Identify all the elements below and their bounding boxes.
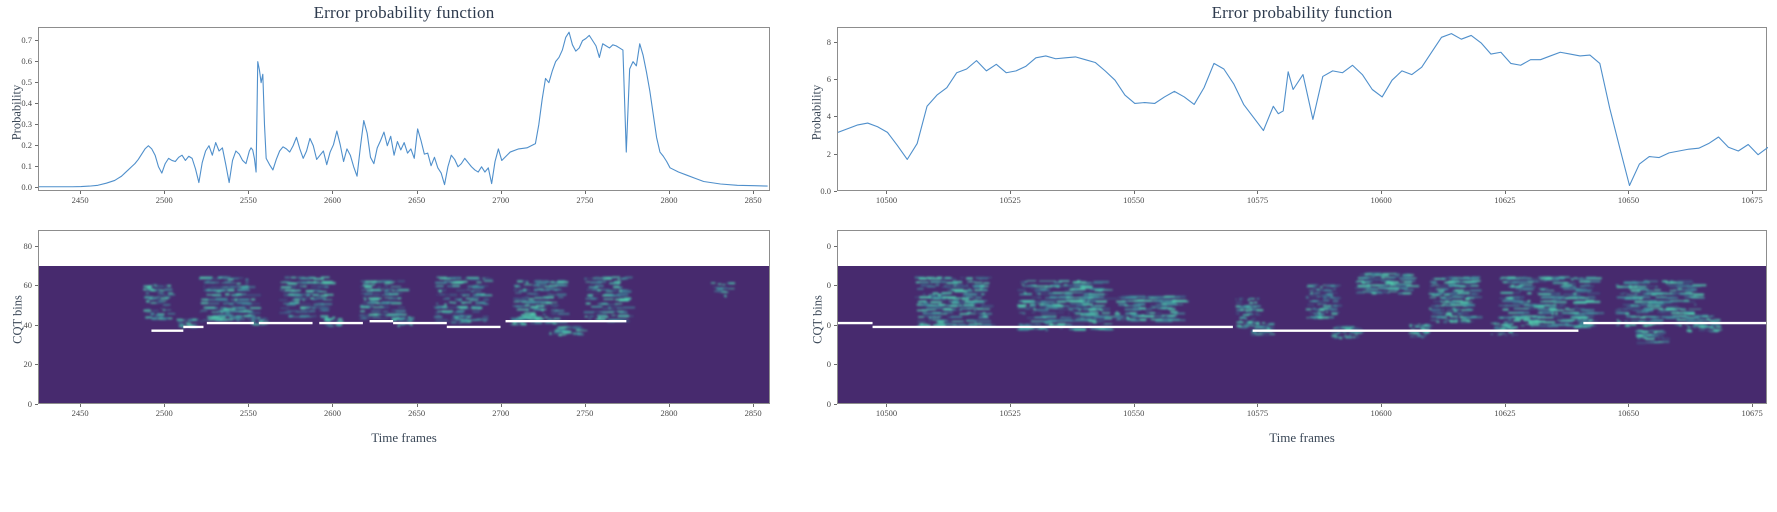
x-tick-label: 10625 xyxy=(1494,408,1515,418)
x-tickmark xyxy=(1134,191,1135,194)
y-tick-label: 0.2 xyxy=(6,140,32,150)
y-tick-label: 6 xyxy=(805,74,831,84)
right-error-line-chart xyxy=(838,28,1768,192)
x-tick-label: 10575 xyxy=(1247,195,1268,205)
x-tick-label: 2500 xyxy=(156,195,173,205)
y-tick-label: 0 xyxy=(805,359,831,369)
y-tick-label: 0.0 xyxy=(805,186,831,196)
x-tickmark xyxy=(1752,404,1753,407)
x-tick-label: 10575 xyxy=(1247,408,1268,418)
x-tickmark xyxy=(332,404,333,407)
x-tick-label: 10600 xyxy=(1371,408,1392,418)
right-error-axes xyxy=(837,27,1767,191)
y-tickmark xyxy=(35,103,38,104)
y-tickmark xyxy=(35,325,38,326)
x-tickmark xyxy=(585,191,586,194)
x-tickmark xyxy=(1505,191,1506,194)
left-error-ylabel: Probability xyxy=(10,78,25,148)
y-tickmark xyxy=(35,124,38,125)
x-tickmark xyxy=(886,404,887,407)
x-tick-label: 2450 xyxy=(72,195,89,205)
y-tickmark xyxy=(834,404,837,405)
x-tick-label: 2550 xyxy=(240,195,257,205)
x-tickmark xyxy=(886,191,887,194)
y-tickmark xyxy=(834,364,837,365)
y-tickmark xyxy=(834,191,837,192)
x-tickmark xyxy=(164,191,165,194)
y-tick-label: 0.0 xyxy=(6,182,32,192)
x-tick-label: 10550 xyxy=(1123,195,1144,205)
left-xlabel: Time frames xyxy=(38,430,770,446)
y-tick-label: 0.4 xyxy=(6,98,32,108)
y-tickmark xyxy=(35,285,38,286)
x-tick-label: 2450 xyxy=(72,408,89,418)
left-cqt-axes xyxy=(38,230,770,404)
y-tickmark xyxy=(834,42,837,43)
y-tickmark xyxy=(834,79,837,80)
x-tickmark xyxy=(1628,404,1629,407)
x-tick-label: 10675 xyxy=(1742,195,1763,205)
y-tickmark xyxy=(35,40,38,41)
x-tick-label: 2800 xyxy=(661,195,678,205)
x-tickmark xyxy=(501,404,502,407)
x-tickmark xyxy=(753,191,754,194)
x-tick-label: 10525 xyxy=(1000,195,1021,205)
x-tick-label: 2700 xyxy=(492,408,509,418)
x-tickmark xyxy=(80,191,81,194)
y-tick-label: 0 xyxy=(6,399,32,409)
left-annotation-overlay xyxy=(39,231,769,403)
x-tick-label: 2600 xyxy=(324,408,341,418)
x-tick-label: 2850 xyxy=(745,408,762,418)
x-tickmark xyxy=(248,404,249,407)
x-tickmark xyxy=(1134,404,1135,407)
x-tick-label: 10625 xyxy=(1494,195,1515,205)
x-tickmark xyxy=(501,191,502,194)
x-tickmark xyxy=(1752,191,1753,194)
x-tick-label: 10650 xyxy=(1618,195,1639,205)
x-tick-label: 2800 xyxy=(661,408,678,418)
y-tickmark xyxy=(834,154,837,155)
y-tick-label: 0.1 xyxy=(6,161,32,171)
y-tick-label: 2 xyxy=(805,149,831,159)
y-tickmark xyxy=(35,166,38,167)
y-tickmark xyxy=(35,187,38,188)
x-tick-label: 2750 xyxy=(576,195,593,205)
panel-right: Error probability function Probability 0… xyxy=(800,0,1777,512)
x-tickmark xyxy=(585,404,586,407)
x-tick-label: 10525 xyxy=(1000,408,1021,418)
x-tickmark xyxy=(1381,404,1382,407)
x-tick-label: 10675 xyxy=(1742,408,1763,418)
left-error-line-chart xyxy=(39,28,771,192)
x-tickmark xyxy=(417,191,418,194)
figure-canvas: Error probability function Probability 0… xyxy=(0,0,1777,512)
x-tick-label: 2700 xyxy=(492,195,509,205)
left-error-axes xyxy=(38,27,770,191)
y-tick-label: 0 xyxy=(805,280,831,290)
x-tickmark xyxy=(1010,404,1011,407)
y-tickmark xyxy=(35,61,38,62)
y-tick-label: 0.3 xyxy=(6,119,32,129)
x-tickmark xyxy=(332,191,333,194)
y-tick-label: 0 xyxy=(805,241,831,251)
y-tickmark xyxy=(35,404,38,405)
x-tickmark xyxy=(417,404,418,407)
y-tick-label: 40 xyxy=(6,320,32,330)
right-xlabel: Time frames xyxy=(837,430,1767,446)
x-tick-label: 2650 xyxy=(408,408,425,418)
x-tickmark xyxy=(164,404,165,407)
x-tickmark xyxy=(1505,404,1506,407)
x-tick-label: 2550 xyxy=(240,408,257,418)
right-annotation-overlay xyxy=(838,231,1766,403)
x-tick-label: 2600 xyxy=(324,195,341,205)
y-tick-label: 60 xyxy=(6,280,32,290)
y-tickmark xyxy=(35,82,38,83)
x-tick-label: 10650 xyxy=(1618,408,1639,418)
left-error-title: Error probability function xyxy=(38,3,770,23)
y-tick-label: 0.7 xyxy=(6,35,32,45)
x-tickmark xyxy=(80,404,81,407)
x-tickmark xyxy=(669,404,670,407)
x-tickmark xyxy=(1010,191,1011,194)
y-tick-label: 20 xyxy=(6,359,32,369)
x-tick-label: 2500 xyxy=(156,408,173,418)
x-tickmark xyxy=(1381,191,1382,194)
x-tick-label: 10550 xyxy=(1123,408,1144,418)
y-tickmark xyxy=(35,246,38,247)
x-tickmark xyxy=(1257,191,1258,194)
x-tick-label: 2650 xyxy=(408,195,425,205)
y-tick-label: 8 xyxy=(805,37,831,47)
y-tickmark xyxy=(35,145,38,146)
y-tickmark xyxy=(834,116,837,117)
y-tick-label: 4 xyxy=(805,111,831,121)
x-tick-label: 10500 xyxy=(876,408,897,418)
y-tick-label: 0.6 xyxy=(6,56,32,66)
y-tickmark xyxy=(35,364,38,365)
x-tick-label: 2850 xyxy=(745,195,762,205)
x-tickmark xyxy=(753,404,754,407)
y-tickmark xyxy=(834,285,837,286)
y-tick-label: 0 xyxy=(805,399,831,409)
x-tick-label: 2750 xyxy=(576,408,593,418)
x-tick-label: 10500 xyxy=(876,195,897,205)
right-error-title: Error probability function xyxy=(837,3,1767,23)
y-tickmark xyxy=(834,325,837,326)
y-tick-label: 0 xyxy=(805,320,831,330)
y-tick-label: 0.5 xyxy=(6,77,32,87)
x-tick-label: 10600 xyxy=(1371,195,1392,205)
x-tickmark xyxy=(1628,191,1629,194)
x-tickmark xyxy=(1257,404,1258,407)
y-tickmark xyxy=(834,246,837,247)
panel-left: Error probability function Probability 0… xyxy=(0,0,790,512)
x-tickmark xyxy=(669,191,670,194)
y-tick-label: 80 xyxy=(6,241,32,251)
right-cqt-axes xyxy=(837,230,1767,404)
x-tickmark xyxy=(248,191,249,194)
